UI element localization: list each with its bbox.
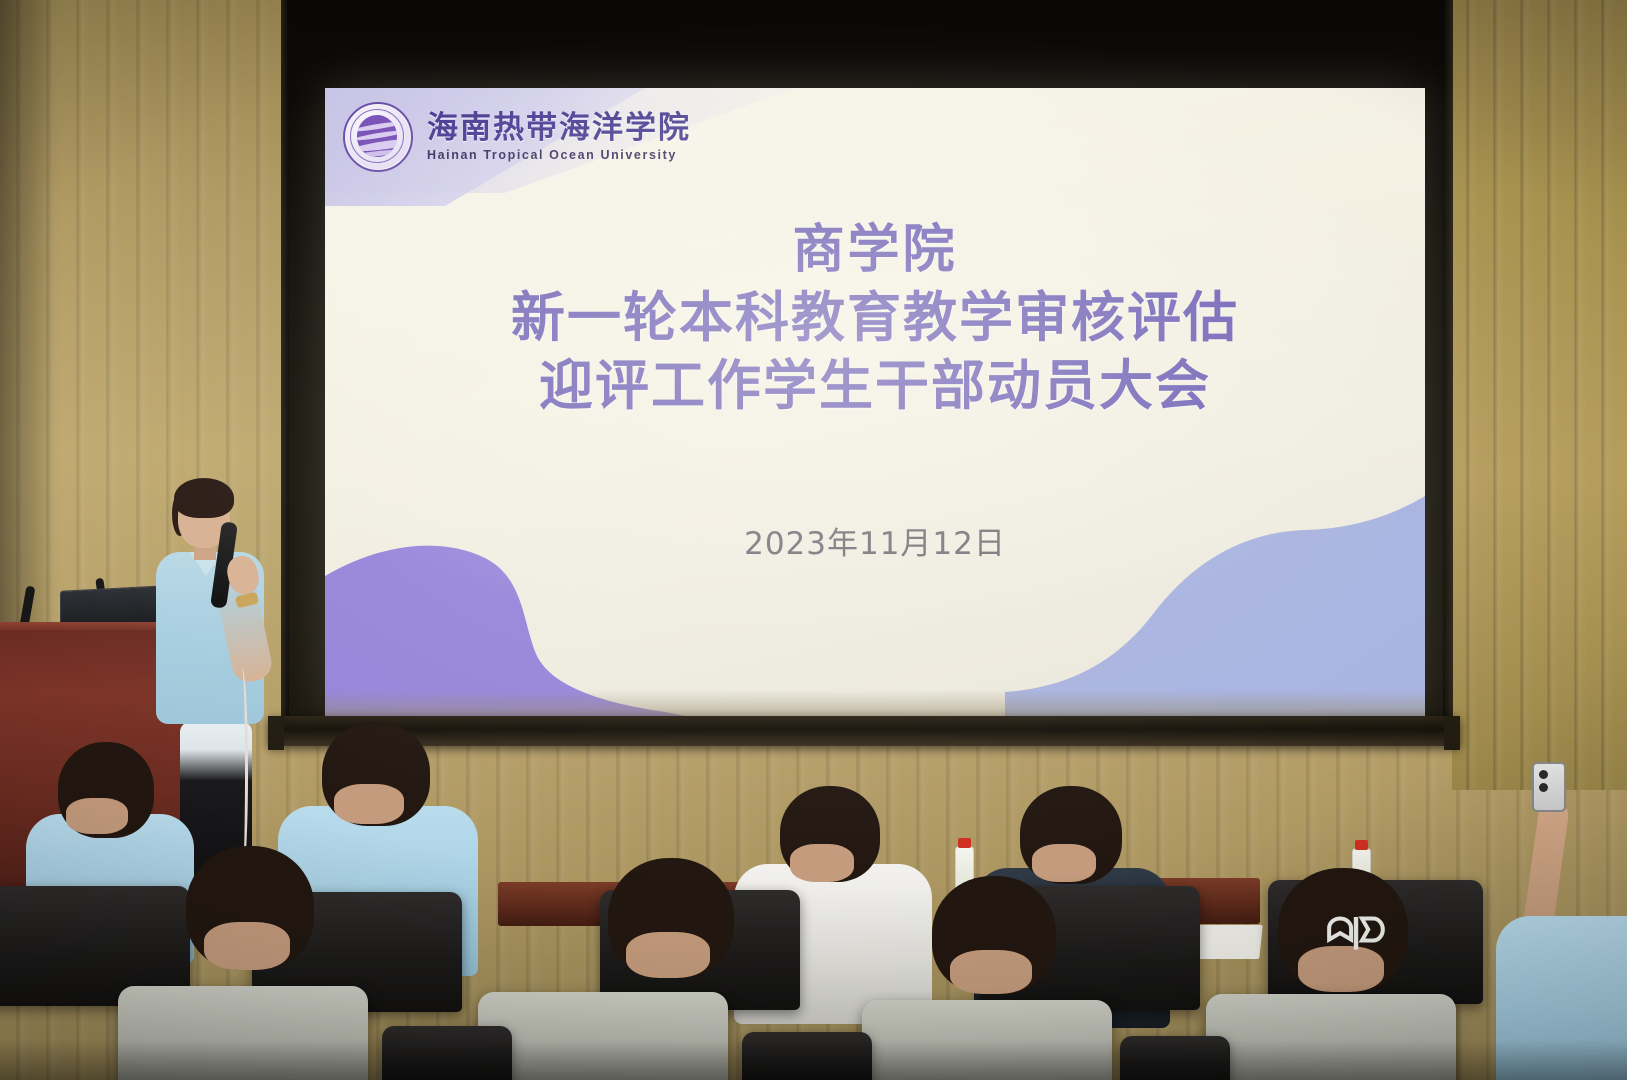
scene-vignette — [0, 0, 1627, 1080]
lecture-hall-scene: 海南热带海洋学院 Hainan Tropical Ocean Universit… — [0, 0, 1627, 1080]
